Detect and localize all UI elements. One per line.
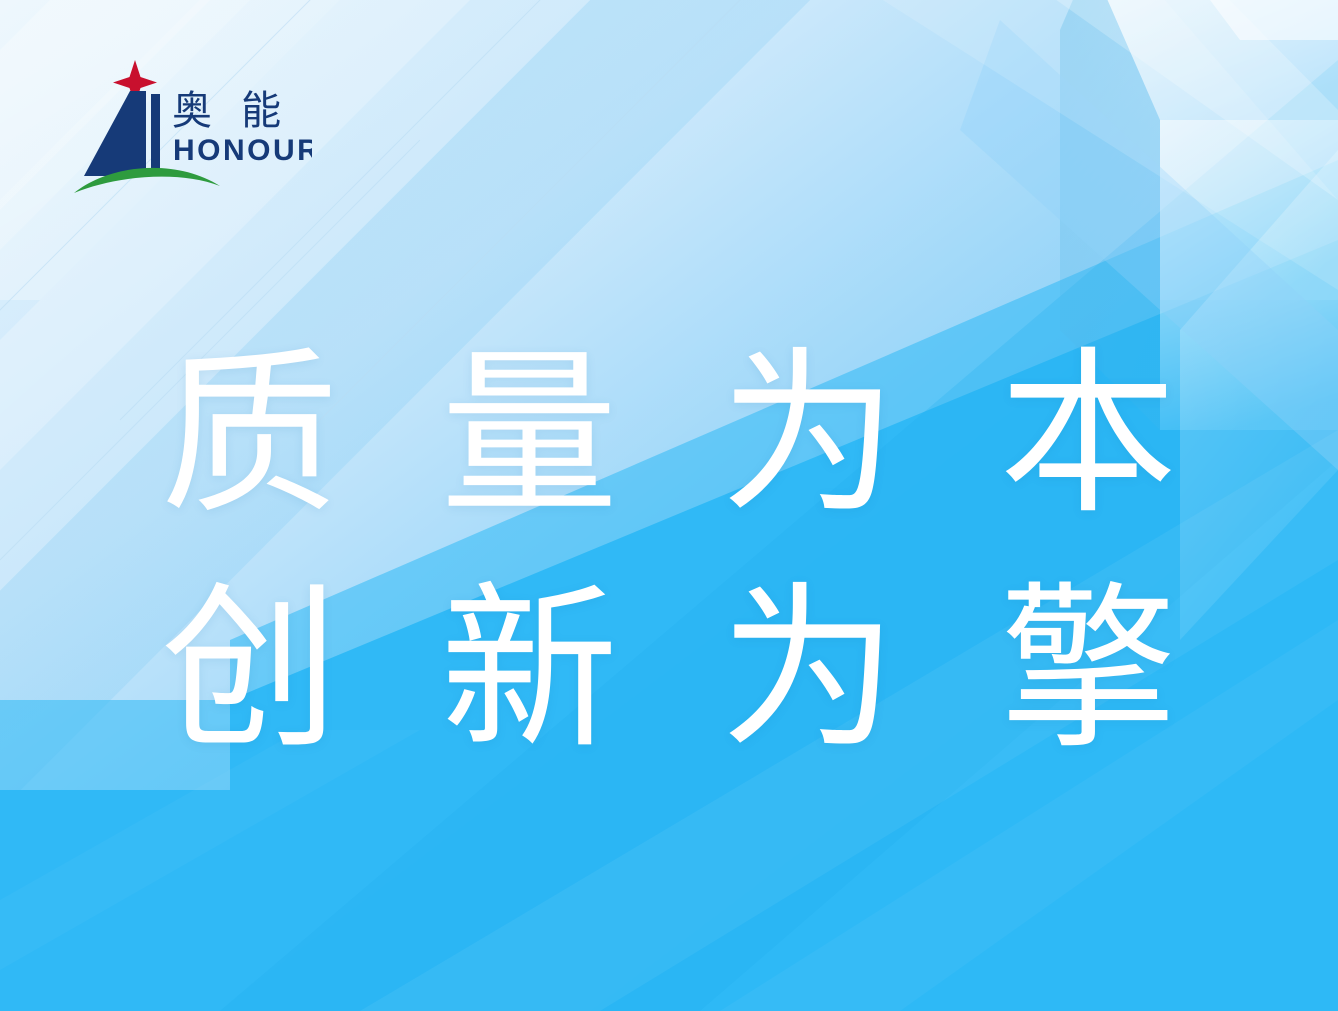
logo-latin-name: HONOUR xyxy=(173,134,312,167)
mountain-mark xyxy=(84,91,146,176)
logo-chinese-name: 奥 能 xyxy=(172,89,290,133)
mark-bar xyxy=(151,94,160,176)
company-logo[interactable]: 奥 能 HONOUR xyxy=(72,58,312,198)
slide-canvas: 奥 能 HONOUR 质 量 为 本 创 新 为 擎 xyxy=(0,0,1338,1011)
logo-artwork: 奥 能 HONOUR xyxy=(72,58,312,198)
